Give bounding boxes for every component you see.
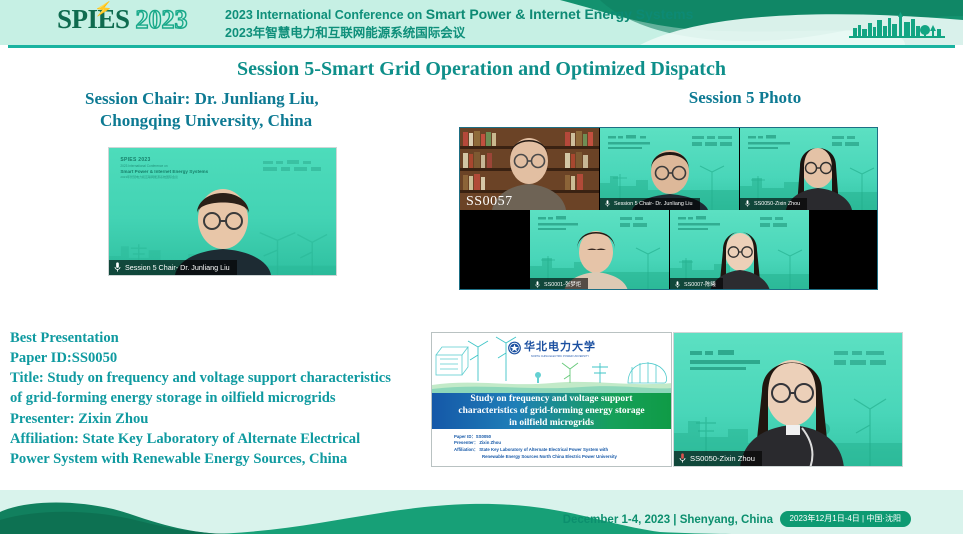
slide-meta-presenter: Presenter： Zixin Zhou bbox=[454, 440, 671, 447]
presenter-video-name-text: SS0050-Zixin Zhou bbox=[690, 454, 755, 463]
slide-top-graphic: 华北电力大学 NORTH CHINA ELECTRIC POWER UNIVER… bbox=[432, 333, 671, 393]
presenter-video-name-badge: SS0050-Zixin Zhou bbox=[674, 451, 762, 466]
header-conference-titles: 2023 International Conference on Smart P… bbox=[225, 6, 693, 41]
lightning-bolt-icon: ⚡ bbox=[93, 2, 113, 19]
presentation-slide: SPIES ⚡ 2023 2023 International Conferen… bbox=[0, 0, 963, 534]
session-chair-line1: Session Chair: Dr. Junliang Liu, bbox=[85, 88, 319, 110]
best-presentation-block: Best Presentation Paper ID:SS0050 Title:… bbox=[10, 328, 430, 469]
university-name-en: NORTH CHINA ELECTRIC POWER UNIVERSITY bbox=[531, 355, 589, 358]
city-skyline-icon bbox=[849, 12, 945, 38]
microphone-icon bbox=[745, 200, 750, 207]
microphone-icon bbox=[679, 453, 686, 463]
grid-cell-4-name-text: SS0007-陈曦 bbox=[684, 280, 716, 288]
header-title-en-prefix: 2023 International Conference on bbox=[225, 8, 426, 22]
best-presentation-affiliation-line1: Affiliation: State Key Laboratory of Alt… bbox=[10, 429, 430, 449]
header-title-en-strong: Smart Power & Internet Energy Systems bbox=[426, 6, 694, 22]
university-name-cn: 华北电力大学 bbox=[524, 338, 596, 354]
presenter-video-graphic bbox=[674, 333, 903, 467]
slide-title-line3: in oilfield microgrids bbox=[458, 417, 644, 429]
best-presentation-title-line2: of grid-forming energy storage in oilfie… bbox=[10, 388, 430, 408]
grid-cell-1-name-text: Session 5 Chair- Dr. Junliang Liu bbox=[614, 201, 693, 207]
header-divider bbox=[8, 45, 955, 48]
header-title-cn: 2023年智慧电力和互联网能源系统国际会议 bbox=[225, 26, 693, 42]
chair-video-name-badge: Session 5 Chair- Dr. Junliang Liu bbox=[109, 260, 237, 275]
header-title-en: 2023 International Conference on Smart P… bbox=[225, 6, 693, 24]
video-bg-branding: SPIES 2023 2023 International Conference… bbox=[120, 157, 208, 179]
university-logo: 华北电力大学 NORTH CHINA ELECTRIC POWER UNIVER… bbox=[507, 338, 596, 358]
session-photo-grid: Session 5 Chair- Dr. Junliang Liu bbox=[459, 127, 878, 290]
best-presentation-paper-id: Paper ID:SS0050 bbox=[10, 348, 430, 368]
session-photo-label: Session 5 Photo bbox=[600, 88, 890, 108]
university-seal-icon bbox=[507, 341, 521, 355]
grid-cell-1: Session 5 Chair- Dr. Junliang Liu bbox=[600, 128, 739, 210]
best-presentation-title-line1: Title: Study on frequency and voltage su… bbox=[10, 368, 430, 388]
grid-cell-3: SS0001-张梦炬 bbox=[530, 210, 669, 290]
video-bg-brand-line4: 2023年智慧电力和互联网能源系统国际会议 bbox=[120, 175, 208, 179]
microphone-icon bbox=[114, 262, 121, 272]
slide-footer: December 1-4, 2023 | Shenyang, China 202… bbox=[0, 490, 963, 534]
grid-overlay-id: SS0057 bbox=[466, 194, 513, 210]
chair-video-thumbnail: SPIES 2023 2023 International Conference… bbox=[108, 147, 337, 276]
slide-header: SPIES ⚡ 2023 2023 International Conferen… bbox=[0, 0, 963, 45]
slide-title-text: Study on frequency and voltage support c… bbox=[453, 393, 649, 429]
grid-cell-2: SS0050-Zixin Zhou bbox=[740, 128, 878, 210]
session-chair-block: Session Chair: Dr. Junliang Liu, Chongqi… bbox=[85, 88, 319, 133]
grid-cell-4: SS0007-陈曦 bbox=[670, 210, 809, 290]
spies-logo: SPIES ⚡ 2023 bbox=[57, 6, 188, 33]
slide-title-line2: characteristics of grid-forming energy s… bbox=[458, 405, 644, 417]
page-title: Session 5-Smart Grid Operation and Optim… bbox=[0, 58, 963, 81]
presentation-slide-thumbnail: 华北电力大学 NORTH CHINA ELECTRIC POWER UNIVER… bbox=[431, 332, 672, 467]
slide-title-line1: Study on frequency and voltage support bbox=[458, 393, 644, 405]
slide-metadata: Paper ID：SS0050 Presenter： Zixin Zhou Af… bbox=[432, 429, 671, 466]
grid-cell-3-name-badge: SS0001-张梦炬 bbox=[530, 278, 588, 290]
video-bg-brand-line2: 2023 International Conference on bbox=[120, 164, 208, 168]
microphone-icon bbox=[535, 281, 540, 288]
slide-meta-affiliation-1: Affiliation： State Key Laboratory of Alt… bbox=[454, 447, 671, 454]
session-chair-line2: Chongqing University, China bbox=[85, 110, 319, 132]
slide-meta-affiliation-2: Renewable Energy Sources North China Ele… bbox=[454, 454, 671, 461]
microphone-icon bbox=[675, 281, 680, 288]
logo-year: 2023 bbox=[136, 7, 188, 33]
presenter-video-thumbnail: SS0050-Zixin Zhou bbox=[673, 332, 903, 467]
video-bg-brand-line1: SPIES 2023 bbox=[120, 157, 208, 164]
grid-cell-1-name-badge: Session 5 Chair- Dr. Junliang Liu bbox=[600, 198, 700, 210]
grid-cell-4-name-badge: SS0007-陈曦 bbox=[670, 278, 723, 290]
slide-title-band: Study on frequency and voltage support c… bbox=[432, 393, 671, 429]
microphone-icon bbox=[605, 200, 610, 207]
chair-video-name-text: Session 5 Chair- Dr. Junliang Liu bbox=[125, 263, 230, 272]
best-presentation-affiliation-line2: Power System with Renewable Energy Sourc… bbox=[10, 449, 430, 469]
grid-cell-2-name-badge: SS0050-Zixin Zhou bbox=[740, 198, 807, 210]
spies-wordmark: SPIES ⚡ bbox=[57, 6, 130, 33]
footer-date-location-cn: 2023年12月1日-4日 | 中国·沈阳 bbox=[780, 511, 911, 527]
best-presentation-presenter: Presenter: Zixin Zhou bbox=[10, 409, 430, 429]
slide-meta-paper-id: Paper ID：SS0050 bbox=[454, 434, 671, 441]
video-bg-sponsor-marks-icon bbox=[263, 159, 327, 175]
best-presentation-heading: Best Presentation bbox=[10, 328, 430, 348]
grid-cell-3-name-text: SS0001-张梦炬 bbox=[544, 280, 581, 288]
grid-cell-2-name-text: SS0050-Zixin Zhou bbox=[754, 201, 800, 207]
footer-date-location: December 1-4, 2023 | Shenyang, China bbox=[563, 514, 773, 526]
